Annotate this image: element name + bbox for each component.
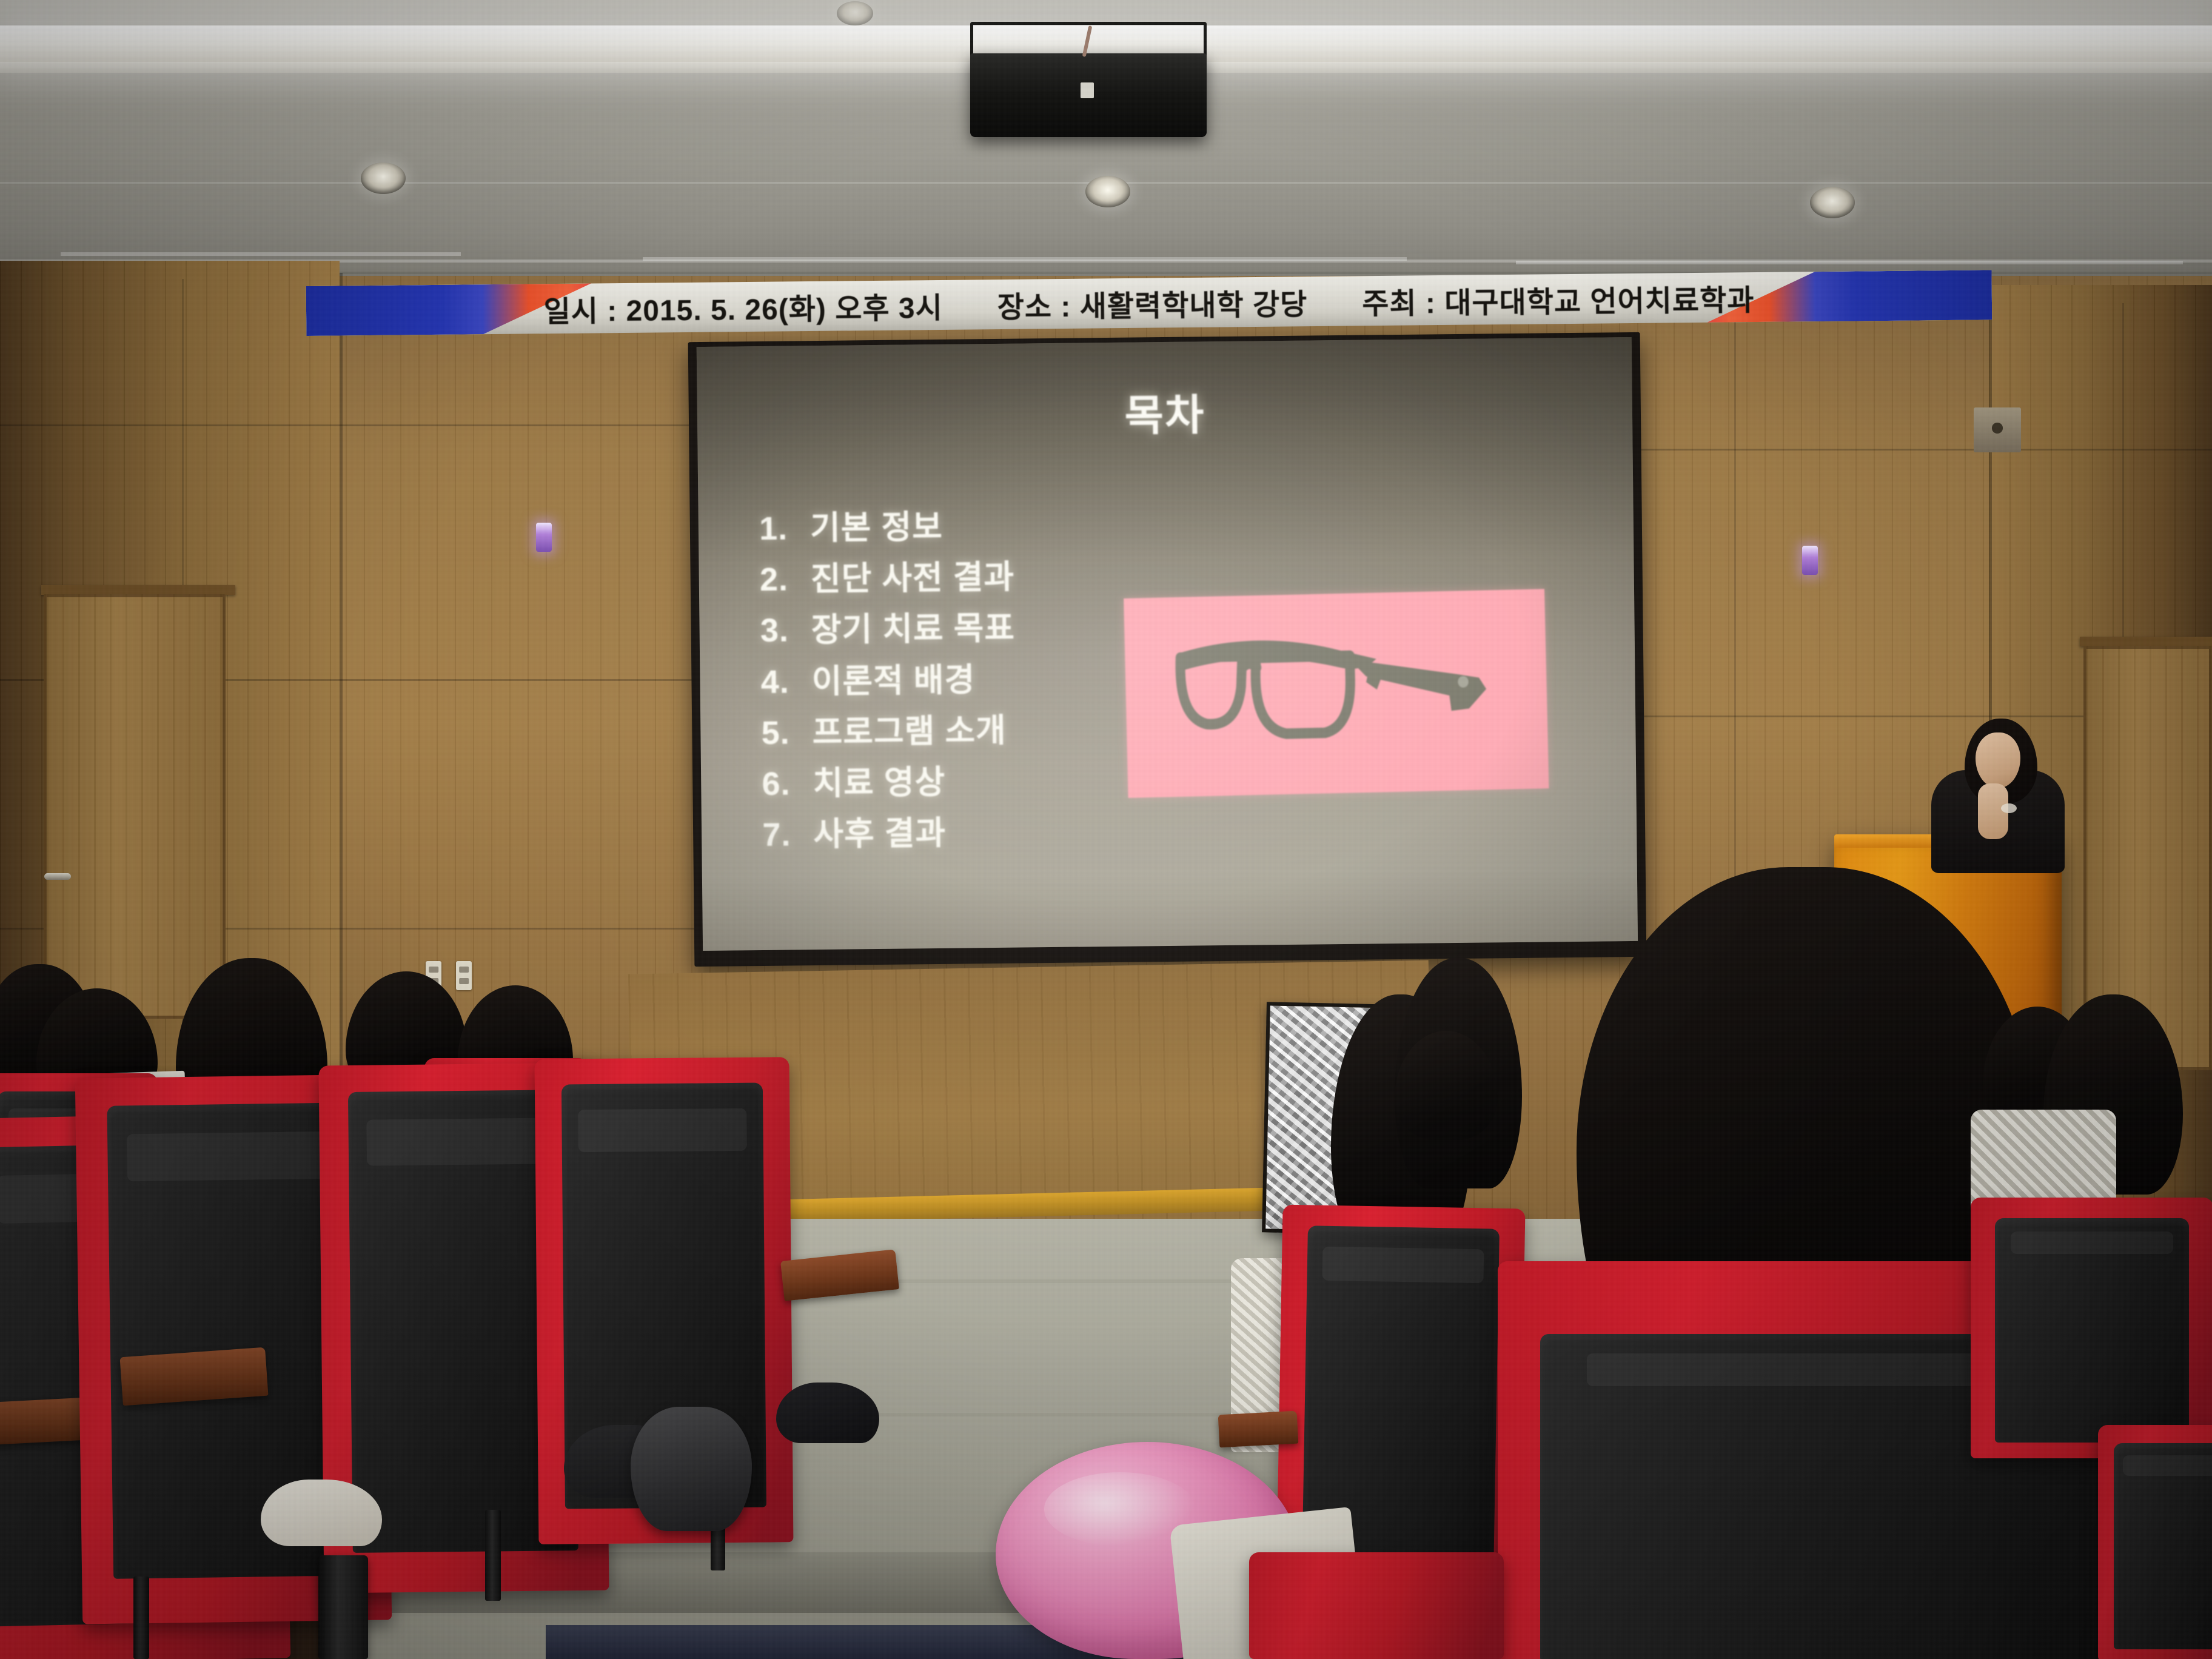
screen-vignette	[697, 337, 1638, 951]
door-handle-left[interactable]	[44, 873, 71, 880]
banner-segment-host: 주최 : 대구대학교 언어치료학과	[1362, 276, 1755, 322]
projection-screen: 목차 1. 기본 정보 2. 진단 사전 결과 3. 장기 치료 목표	[697, 337, 1638, 951]
door-lintel-right	[2080, 637, 2212, 646]
seat-armrest-f1[interactable]	[0, 1398, 86, 1446]
ceiling-rail-left	[61, 252, 461, 256]
speaker-brand-badge	[1081, 82, 1094, 98]
seat-leg-2	[485, 1510, 501, 1601]
wall-power-outlet-left-b[interactable]	[456, 961, 472, 990]
side-door-left[interactable]	[44, 594, 226, 1019]
ceiling-downlight-1	[361, 163, 406, 194]
backpack-on-floor[interactable]	[631, 1407, 752, 1531]
auditorium-seat-r4[interactable]	[2098, 1425, 2212, 1659]
seat-cushion	[1995, 1218, 2189, 1443]
seat-leg-1	[133, 1577, 149, 1659]
wall-trim-line-1	[0, 424, 728, 426]
wall-trim-line-4	[1601, 449, 2212, 451]
ceiling-rail-mid	[643, 257, 1407, 261]
auditorium-seat-f5[interactable]	[1249, 1552, 1504, 1659]
ceiling-downlight-4	[837, 1, 873, 25]
lecture-hall-photo: 일시 : 2015. 5. 26(화) 오후 3시 장소 : 새활력학내학 강당…	[0, 0, 2212, 1659]
ceiling-downlight-3	[1810, 187, 1855, 218]
door-lintel-left	[41, 585, 235, 595]
banner-segment-date: 일시 : 2015. 5. 26(화) 오후 3시	[543, 284, 943, 330]
seat-cushion	[2114, 1443, 2212, 1649]
indicator-light-left	[536, 523, 552, 552]
indicator-light-right	[1802, 546, 1818, 575]
audience-shoe-dark-2	[776, 1382, 879, 1443]
seat-armrest-f3[interactable]	[120, 1347, 269, 1406]
presenter-collar	[2001, 803, 2017, 813]
seat-armrest-r1[interactable]	[1218, 1411, 1299, 1448]
water-bottle[interactable]	[318, 1555, 368, 1659]
projection-screen-assembly: 목차 1. 기본 정보 2. 진단 사전 결과 3. 장기 치료 목표	[688, 332, 1647, 967]
audience-shoe-white	[261, 1480, 382, 1546]
ceiling-rail-right	[1516, 261, 2183, 264]
ceiling-downlight-2	[1085, 176, 1130, 207]
auditorium-seat-r3[interactable]	[1971, 1198, 2212, 1458]
wall-mounted-sensor	[1974, 407, 2021, 452]
banner-segment-place: 장소 : 새활력학내학 강당	[997, 280, 1307, 326]
ceiling-speaker	[970, 53, 1207, 137]
